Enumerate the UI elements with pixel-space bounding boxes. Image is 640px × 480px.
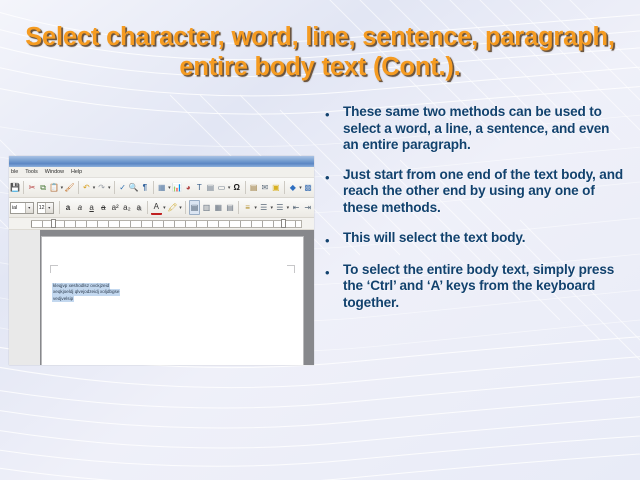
font-size-dropdown-icon[interactable]: ▾: [45, 203, 53, 213]
underline-icon[interactable]: a: [86, 200, 97, 215]
document-page[interactable]: kleqjvp xeshodlsz ovckjzeid xeqkjoeldj q…: [41, 236, 304, 365]
table-dropdown-icon[interactable]: ▾: [168, 185, 171, 191]
shadow-icon[interactable]: a: [133, 200, 144, 215]
insert-frame-icon[interactable]: ▤: [205, 180, 215, 195]
list-item: • Just start from one end of the text bo…: [325, 167, 625, 217]
gallery-icon[interactable]: ▩: [303, 180, 313, 195]
workspace-left-margin: [9, 230, 40, 365]
redo-icon[interactable]: ↷: [97, 180, 107, 195]
ordered-list-dropdown-icon[interactable]: ▾: [286, 205, 289, 211]
insert-field-icon[interactable]: ▭: [216, 180, 226, 195]
toolbar-separator: [78, 181, 79, 194]
font-name-combo[interactable]: ial ▾: [10, 202, 34, 214]
bullet-marker-icon: •: [325, 167, 343, 217]
line-spacing-icon[interactable]: ≡: [242, 200, 253, 215]
text-box-icon[interactable]: T: [194, 180, 204, 195]
cross-reference-dropdown-icon[interactable]: ▾: [299, 185, 302, 191]
footnote-icon[interactable]: ▣: [271, 180, 281, 195]
copy-icon[interactable]: ⧉: [38, 180, 48, 195]
bullet-text: To select the entire body text, simply p…: [343, 262, 625, 312]
spellcheck-icon[interactable]: ✓: [118, 180, 128, 195]
insert-page-break-icon[interactable]: ▤: [249, 180, 259, 195]
toolbar-separator: [114, 181, 115, 194]
align-center-icon[interactable]: ▥: [201, 200, 212, 215]
right-indent-marker[interactable]: [281, 219, 286, 228]
screenshot-title-bar: [9, 156, 314, 167]
save-icon[interactable]: 💾: [10, 180, 20, 195]
bullet-text: These same two methods can be used to se…: [343, 104, 625, 154]
document-line: vedjvelsip: [52, 296, 74, 302]
toolbar-separator: [23, 181, 24, 194]
toolbar-separator: [245, 181, 246, 194]
text-boundary-corner-icon: [50, 265, 58, 273]
highlight-icon[interactable]: 🖍: [167, 200, 178, 215]
font-name-value: ial: [12, 205, 25, 211]
paste-dropdown-icon[interactable]: ▾: [60, 185, 63, 191]
redo-dropdown-icon[interactable]: ▾: [108, 185, 111, 191]
line-spacing-dropdown-icon[interactable]: ▾: [254, 205, 257, 211]
paste-icon[interactable]: 📋: [49, 180, 59, 195]
text-boundary-corner-icon: [287, 265, 295, 273]
bookmark-icon[interactable]: ◆: [288, 180, 298, 195]
align-left-icon[interactable]: ▤: [189, 200, 200, 215]
list-item: • This will select the text body.: [325, 230, 625, 249]
toolbar-separator: [185, 201, 186, 214]
toolbar-separator: [153, 181, 154, 194]
ordered-list-icon[interactable]: ☰: [274, 200, 285, 215]
menu-item-table[interactable]: ble: [11, 169, 18, 175]
highlight-dropdown-icon[interactable]: ▾: [179, 205, 182, 211]
list-item: • These same two methods can be used to …: [325, 104, 625, 154]
bullet-marker-icon: •: [325, 104, 343, 154]
toolbar-separator: [284, 181, 285, 194]
bold-icon[interactable]: a: [63, 200, 74, 215]
bullet-text: Just start from one end of the text body…: [343, 167, 625, 217]
undo-icon[interactable]: ↶: [81, 180, 91, 195]
selected-document-text[interactable]: kleqjvp xeshodlsz ovckjzeid xeqkjoeldj q…: [52, 283, 267, 302]
toolbar-separator: [147, 201, 148, 214]
superscript-icon[interactable]: a²: [110, 200, 121, 215]
embedded-word-processor-screenshot: ble Tools Window Help 💾 ✂ ⧉ 📋 ▾ 🖌 ↶ ▾ ↷ …: [9, 156, 314, 365]
undo-dropdown-icon[interactable]: ▾: [92, 185, 95, 191]
bullet-marker-icon: •: [325, 230, 343, 249]
clone-formatting-icon[interactable]: 🖌: [64, 180, 74, 195]
table-icon[interactable]: ▦: [157, 180, 167, 195]
first-line-indent-marker[interactable]: [51, 219, 56, 228]
field-dropdown-icon[interactable]: ▾: [228, 185, 231, 191]
insert-image-icon[interactable]: ◕: [183, 180, 193, 195]
strikethrough-icon[interactable]: a: [98, 200, 109, 215]
font-color-dropdown-icon[interactable]: ▾: [163, 205, 166, 211]
screenshot-document-workspace: kleqjvp xeshodlsz ovckjzeid xeqkjoeldj q…: [9, 230, 314, 365]
menu-item-window[interactable]: Window: [45, 169, 64, 175]
insert-chart-icon[interactable]: 📊: [172, 180, 182, 195]
unordered-list-icon[interactable]: ☰: [258, 200, 269, 215]
screenshot-horizontal-ruler[interactable]: [9, 218, 314, 230]
slide-title: Select character, word, line, sentence, …: [20, 22, 620, 82]
bullet-marker-icon: •: [325, 262, 343, 312]
slide-body-list: • These same two methods can be used to …: [325, 104, 625, 324]
find-replace-icon[interactable]: 🔍: [129, 180, 139, 195]
screenshot-menu-bar: ble Tools Window Help: [9, 167, 314, 178]
ruler-ticks: [31, 221, 302, 227]
align-justify-icon[interactable]: ▤: [225, 200, 236, 215]
screenshot-formatting-toolbar: ial ▾ 12 ▾ a a a a a² a₂ a A ▾ 🖍 ▾ ▤ ▥ ▦…: [9, 198, 314, 218]
font-size-combo[interactable]: 12 ▾: [37, 202, 54, 214]
increase-indent-icon[interactable]: ⇥: [302, 200, 313, 215]
italic-icon[interactable]: a: [74, 200, 85, 215]
screenshot-standard-toolbar: 💾 ✂ ⧉ 📋 ▾ 🖌 ↶ ▾ ↷ ▾ ✓ 🔍 ¶ ▦ ▾ 📊 ◕ T ▤ ▭ …: [9, 178, 314, 198]
toolbar-separator: [238, 201, 239, 214]
align-right-icon[interactable]: ▦: [213, 200, 224, 215]
toolbar-separator: [59, 201, 60, 214]
slide-canvas: Select character, word, line, sentence, …: [0, 0, 640, 480]
formatting-marks-icon[interactable]: ¶: [140, 180, 150, 195]
font-color-icon[interactable]: A: [151, 200, 162, 215]
special-character-icon[interactable]: Ω: [232, 180, 242, 195]
cut-icon[interactable]: ✂: [27, 180, 37, 195]
menu-item-help[interactable]: Help: [71, 169, 82, 175]
list-item: • To select the entire body text, simply…: [325, 262, 625, 312]
hyperlink-icon[interactable]: ✉: [260, 180, 270, 195]
unordered-list-dropdown-icon[interactable]: ▾: [270, 205, 273, 211]
bullet-text: This will select the text body.: [343, 230, 625, 249]
subscript-icon[interactable]: a₂: [122, 200, 133, 215]
menu-item-tools[interactable]: Tools: [25, 169, 38, 175]
font-name-dropdown-icon[interactable]: ▾: [25, 203, 33, 213]
decrease-indent-icon[interactable]: ⇤: [291, 200, 302, 215]
